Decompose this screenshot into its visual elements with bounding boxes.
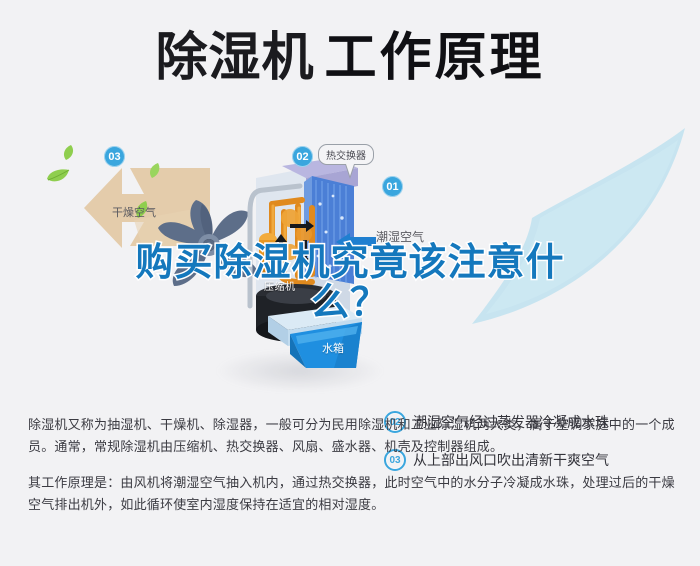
title-part-1: 除湿机 — [155, 32, 314, 84]
page-root: 除湿机 工作原理 — [0, 0, 700, 566]
leaf-icon — [62, 144, 75, 161]
label-compressor: 压缩机 — [264, 278, 296, 293]
label-humid-air: 潮湿空气 — [376, 228, 424, 245]
badge-01-humid-air: 01 — [382, 176, 403, 197]
badge-02-heat-exchanger: 02 — [292, 146, 313, 167]
label-dry-air: 干燥空气 — [112, 204, 156, 220]
dehumidifier-machine-illustration — [238, 156, 374, 368]
leaf-icon — [148, 162, 161, 179]
badge-03-dry-air: 03 — [104, 146, 125, 167]
body-paragraph-1: 除湿机又称为抽湿机、干燥机、除湿器，一般可分为民用除湿机和工业除湿机两大类，属于… — [28, 414, 676, 458]
dehumidifier-diagram: 03 干燥空气 02 热交换器 01 潮湿空气 压缩机 水箱 02 潮湿空气经过… — [0, 118, 700, 408]
title-part-2: 工作原理 — [325, 32, 545, 84]
label-water-tank: 水箱 — [322, 340, 344, 356]
page-title: 除湿机 工作原理 — [0, 20, 700, 96]
body-copy: 除湿机又称为抽湿机、干燥机、除湿器，一般可分为民用除湿机和工业除湿机两大类，属于… — [28, 414, 676, 516]
callout-heat-exchanger: 热交换器 — [318, 144, 374, 165]
leaf-icon — [46, 168, 70, 184]
air-intake-arrow-icon — [336, 233, 376, 251]
body-paragraph-2: 其工作原理是：由风机将潮湿空气抽入机内，通过热交换器，此时空气中的水分子冷凝成水… — [28, 472, 676, 516]
